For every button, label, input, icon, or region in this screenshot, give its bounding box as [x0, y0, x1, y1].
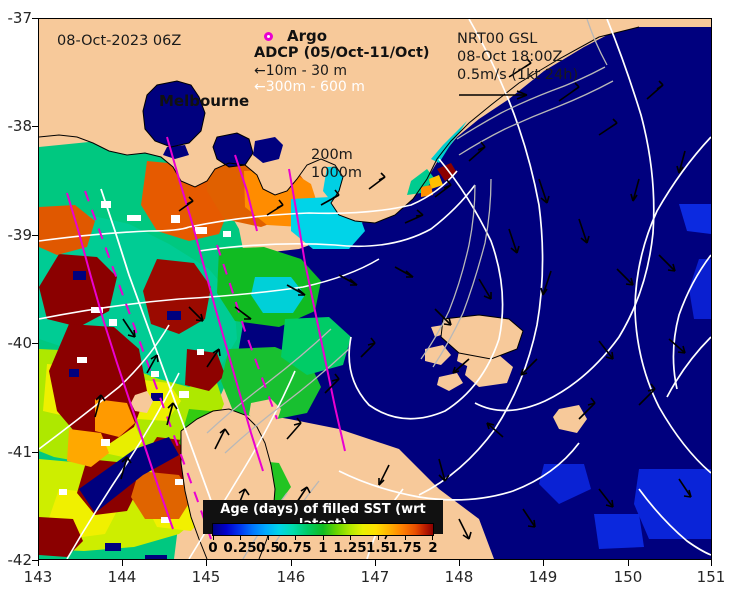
y-axis-tick-label: -39	[0, 227, 32, 243]
legend-model-scale: 0.5m/s (1kt 24h)	[457, 67, 578, 83]
legend-argo-label: Argo	[287, 27, 327, 45]
y-axis-tick-label: -40	[0, 335, 32, 351]
legend-model-product: NRT00 GSL	[457, 31, 537, 47]
argo-circle-marker-icon	[264, 32, 273, 41]
x-axis-tick-label: 145	[176, 568, 236, 586]
x-tickmark	[375, 560, 376, 566]
x-axis-tick-label: 146	[261, 568, 321, 586]
x-axis-tick-label: 150	[598, 568, 658, 586]
x-tickmark	[38, 560, 39, 566]
legend-adcp-shallow: ←10m - 30 m	[254, 63, 347, 79]
y-tickmark	[32, 560, 38, 561]
y-tickmark	[32, 343, 38, 344]
colorbar-gradient	[212, 523, 434, 536]
depth-label-1000m: 1000m	[311, 165, 362, 181]
map-canvas	[39, 19, 711, 559]
legend-adcp-deep: ←300m - 600 m	[254, 79, 365, 95]
colorbar-tick-label: 2	[413, 540, 453, 556]
x-axis-tick-label: 149	[513, 568, 573, 586]
x-tickmark	[206, 560, 207, 566]
y-axis-tick-label: -41	[0, 444, 32, 460]
y-tickmark	[32, 235, 38, 236]
x-axis-tick-label: 147	[345, 568, 405, 586]
x-axis-tick-label: 151	[681, 568, 741, 586]
x-tickmark	[711, 560, 712, 566]
y-tickmark	[32, 18, 38, 19]
y-axis-tick-label: -42	[0, 552, 32, 568]
sst-age-map-figure: 08-Oct-2023 06Z Melbourne Argo ADCP (05/…	[0, 0, 750, 600]
scale-arrow-right-icon	[457, 87, 535, 101]
x-tickmark	[291, 560, 292, 566]
x-axis-tick-label: 148	[429, 568, 489, 586]
x-axis-tick-label: 144	[92, 568, 152, 586]
map-plot-area[interactable]: 08-Oct-2023 06Z Melbourne Argo ADCP (05/…	[38, 18, 712, 560]
date-stamp: 08-Oct-2023 06Z	[57, 33, 181, 49]
y-axis-tick-label: -38	[0, 118, 32, 134]
y-axis-tick-label: -37	[0, 10, 32, 26]
x-tickmark	[459, 560, 460, 566]
x-axis-tick-label: 143	[8, 568, 68, 586]
city-label-melbourne: Melbourne	[159, 92, 249, 110]
x-tickmark	[628, 560, 629, 566]
y-tickmark	[32, 126, 38, 127]
legend-adcp-title: ADCP (05/Oct-11/Oct)	[254, 45, 430, 61]
y-tickmark	[32, 452, 38, 453]
depth-label-200m: 200m	[311, 147, 353, 163]
x-tickmark	[543, 560, 544, 566]
x-tickmark	[122, 560, 123, 566]
legend-model-valid-time: 08-Oct 18:00Z	[457, 49, 563, 65]
